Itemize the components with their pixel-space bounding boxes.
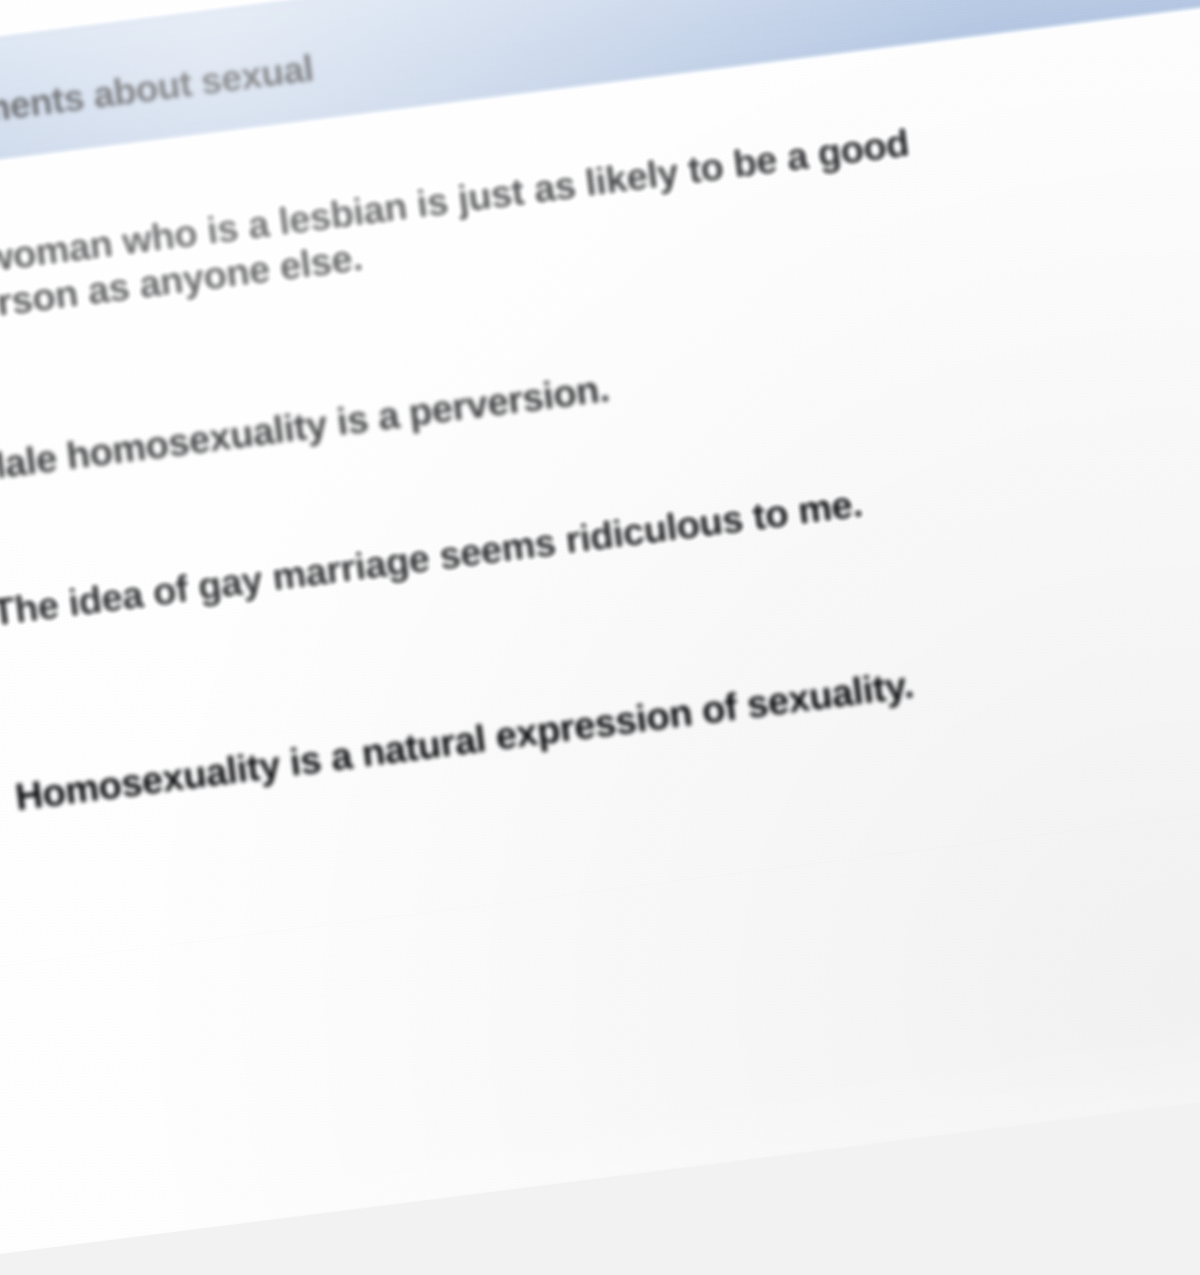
statement-text: A woman who is a lesbian is just as like… <box>0 107 1028 331</box>
survey-photo: owing g statements about sexual disagr s… <box>0 0 1200 1275</box>
blur-layer: owing g statements about sexual disagr s… <box>0 0 1200 1275</box>
statement-table: A woman who is a lesbian is just as like… <box>0 34 1200 993</box>
survey-page: owing g statements about sexual disagr s… <box>0 0 1200 1275</box>
